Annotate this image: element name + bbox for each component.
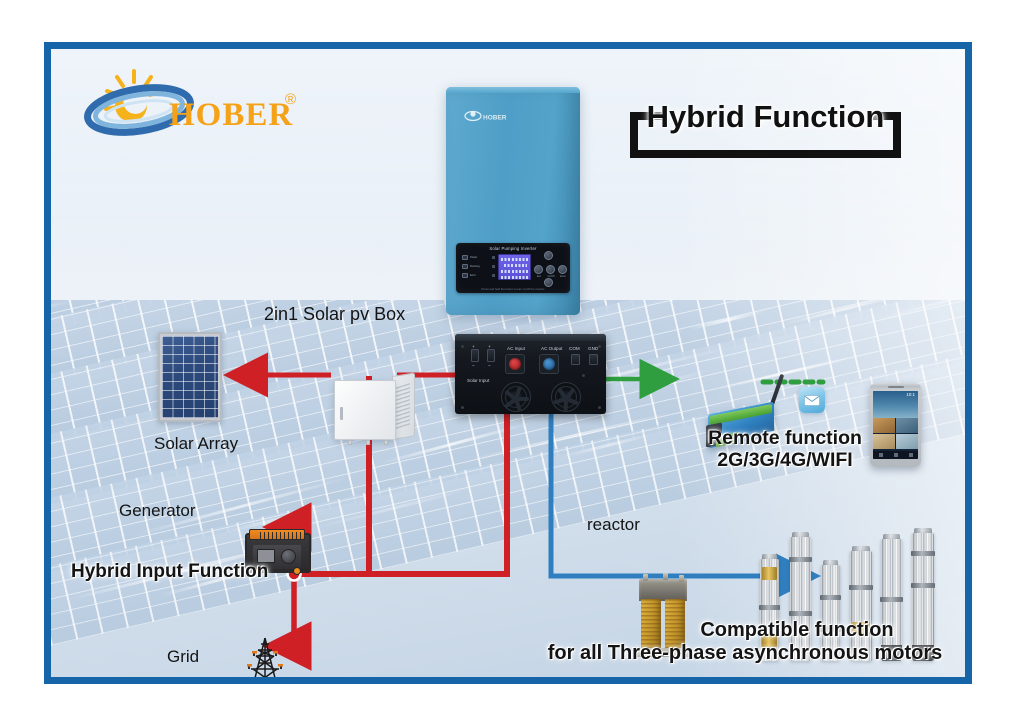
button-esc[interactable] [534, 265, 543, 274]
solar-plus-mark: + [472, 344, 475, 349]
remote-function-label-line2: 2G/3G/4G/WIFI [670, 449, 900, 472]
solar-pv-combiner-box [334, 376, 416, 444]
registered-mark: ® [285, 91, 296, 108]
inverter-terminal-box: + + – – Solar Input AC Input AC Output C… [455, 334, 606, 414]
ac-input-connector[interactable] [505, 354, 525, 374]
inverter-brand-logo: HOBER [464, 109, 524, 123]
diagram-canvas: HOBER ® Hybrid Function [0, 0, 1016, 725]
generator-top-cover [249, 529, 305, 540]
nav-recents-icon [909, 453, 913, 457]
phone-clock: 10:1 [906, 392, 915, 397]
grid-label: Grid [167, 647, 199, 667]
solar-input-label: Solar Input [467, 378, 489, 383]
button-up[interactable] [544, 251, 553, 260]
terminal-top-lip [455, 334, 606, 341]
led-error-label: Error [470, 274, 476, 277]
sms-envelope-icon [799, 387, 825, 413]
generator-label: Generator [119, 501, 196, 521]
ac-output-socket [543, 358, 555, 370]
grid-pylon [234, 636, 296, 684]
led-error: Error [462, 273, 476, 278]
generator-engine [281, 549, 296, 564]
brand-logo: HOBER ® [73, 63, 323, 143]
pv-box-face [334, 380, 396, 440]
panel-footer-note: Press and hold the button to turn on/off… [456, 287, 570, 291]
aux-left-label: COM [569, 346, 580, 351]
cooling-fan-right [551, 382, 581, 412]
solar-pumping-inverter: HOBER Solar Pumping Inverter Power Runni… [446, 87, 580, 315]
lcd-line-4 [501, 276, 530, 279]
led-dot-error [492, 274, 495, 277]
led-power: Power [462, 255, 477, 260]
pv-box-latch [340, 407, 343, 420]
inverter-top-edge [446, 87, 580, 93]
solar-cells [162, 336, 218, 418]
cooling-fan-left [501, 382, 531, 412]
compatible-function-label-line2: for all Three-phase asynchronous motors [535, 642, 955, 665]
panel-title: Solar Pumping Inverter [456, 246, 570, 251]
solar-plus-mark-2: + [488, 344, 491, 349]
reactor-core [639, 579, 687, 601]
running-icon [462, 264, 468, 269]
pv-box-label: 2in1 Solar pv Box [264, 304, 405, 325]
compatible-function-label-line1: Compatible function [647, 619, 947, 642]
generator-vent [260, 532, 308, 539]
led-dot-power [492, 256, 495, 259]
ac-output-connector[interactable] [539, 354, 559, 374]
solar-input-terminal-positive[interactable] [471, 349, 479, 362]
pv-box-foot-right [384, 440, 388, 445]
phone-statusbar: 10:1 [873, 391, 918, 398]
brand-name: HOBER [169, 97, 293, 134]
svg-text:HOBER: HOBER [483, 115, 507, 122]
led-running-label: Running [470, 265, 480, 268]
signal-terminal-screw [582, 374, 585, 377]
button-onoff[interactable] [546, 265, 555, 274]
lcd-line-2 [504, 264, 527, 267]
solar-minus-mark: – [472, 363, 475, 368]
reactor-terminal-mid [663, 573, 668, 580]
generator-wheel-right [293, 567, 301, 575]
title-block: Hybrid Function [628, 94, 903, 159]
pv-box-foot-left [348, 440, 352, 445]
button-enter[interactable] [558, 265, 567, 274]
remote-function-label-line1: Remote function [670, 427, 900, 450]
error-icon [462, 273, 468, 278]
lcd-line-1 [501, 258, 530, 261]
page-title: Hybrid Function [628, 94, 903, 140]
phone-speaker [888, 386, 904, 388]
led-power-label: Power [470, 256, 477, 259]
inverter-control-panel[interactable]: Solar Pumping Inverter Power Running Err… [456, 243, 570, 293]
led-dot-running [492, 265, 495, 268]
reactor-terminal-right [679, 575, 684, 582]
button-down[interactable] [544, 278, 553, 287]
pv-box-foot-mid [366, 440, 370, 445]
solar-minus-mark-2: – [488, 363, 491, 368]
ac-input-socket [509, 358, 521, 370]
aux-right-label: GND [588, 346, 598, 351]
ac-input-label: AC Input [507, 346, 525, 351]
hybrid-input-function-label: Hybrid Input Function [71, 561, 268, 583]
poster-frame: HOBER ® Hybrid Function [44, 42, 972, 684]
lcd-line-3 [501, 270, 530, 273]
solar-array-panel [158, 332, 222, 422]
solar-array-label: Solar Array [154, 434, 238, 454]
reactor-label: reactor [587, 515, 640, 535]
reactor-terminal-left [643, 574, 648, 581]
pv-box-vent [396, 383, 410, 429]
led-running: Running [462, 264, 480, 269]
solar-input-terminal-negative[interactable] [487, 349, 495, 362]
lcd-display [498, 254, 531, 280]
ac-output-label: AC Output [541, 346, 562, 351]
button-enter-label: Enter [556, 275, 570, 278]
aux-left-terminal[interactable] [571, 354, 580, 365]
power-icon [462, 255, 468, 260]
aux-right-terminal[interactable] [589, 354, 598, 365]
